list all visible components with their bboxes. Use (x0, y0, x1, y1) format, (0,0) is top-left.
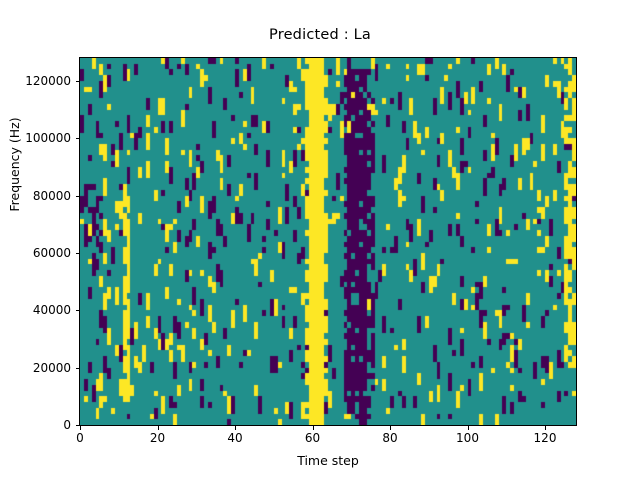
y-tick-mark (76, 81, 80, 82)
x-tick-mark (313, 426, 314, 430)
y-tick-label: 20000 (33, 361, 71, 375)
y-tick-mark (76, 310, 80, 311)
y-tick-mark (76, 425, 80, 426)
x-tick-label: 80 (382, 431, 397, 445)
figure-canvas: Predicted : La 020406080100120 020000400… (0, 0, 640, 480)
y-tick-label: 100000 (25, 131, 71, 145)
y-tick-mark (76, 138, 80, 139)
x-tick-label: 60 (305, 431, 320, 445)
y-axis-label: Frequency (Hz) (7, 0, 22, 349)
x-tick-label: 120 (534, 431, 557, 445)
x-tick-label: 0 (76, 431, 84, 445)
x-tick-mark (390, 426, 391, 430)
y-tick-mark (76, 368, 80, 369)
y-tick-label: 120000 (25, 74, 71, 88)
y-tick-label: 80000 (33, 189, 71, 203)
y-tick-label: 60000 (33, 246, 71, 260)
x-tick-label: 40 (227, 431, 242, 445)
x-tick-label: 20 (150, 431, 165, 445)
heatmap-plot-area[interactable] (79, 57, 577, 426)
x-tick-mark (468, 426, 469, 430)
y-tick-mark (76, 196, 80, 197)
chart-title: Predicted : La (0, 27, 640, 43)
heatmap-cells (80, 58, 576, 425)
x-tick-mark (80, 426, 81, 430)
x-tick-mark (545, 426, 546, 430)
y-tick-label: 0 (63, 418, 71, 432)
x-tick-mark (235, 426, 236, 430)
y-tick-label: 40000 (33, 303, 71, 317)
x-tick-label: 100 (456, 431, 479, 445)
x-tick-mark (158, 426, 159, 430)
y-tick-mark (76, 253, 80, 254)
x-axis-label: Time step (79, 453, 577, 468)
